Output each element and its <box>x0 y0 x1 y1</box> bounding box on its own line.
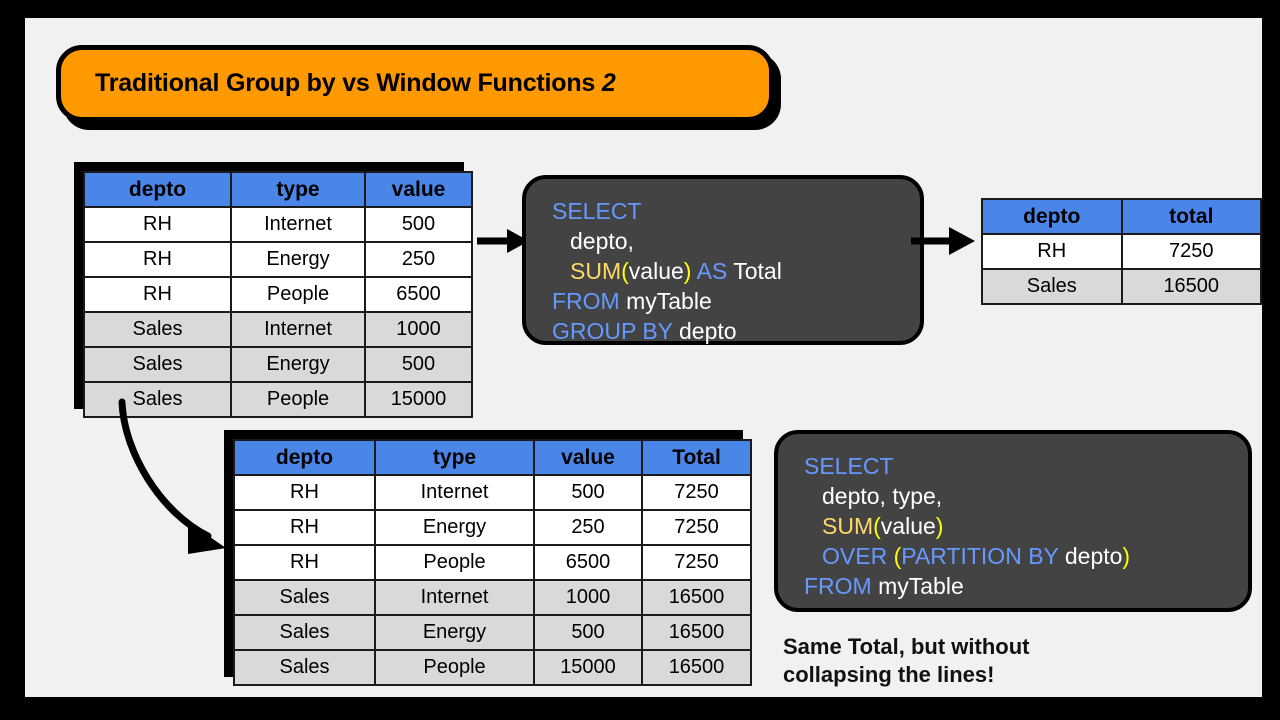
sql-keyword-from: FROM <box>804 573 872 599</box>
sql-keyword-partition-by: PARTITION BY <box>901 543 1058 569</box>
cell-depto: RH <box>84 242 231 277</box>
cell-depto: RH <box>982 234 1122 269</box>
cell-type: Energy <box>375 510 534 545</box>
cell-value: 1000 <box>534 580 642 615</box>
cell-total: 16500 <box>642 615 751 650</box>
column-header-total: total <box>1122 199 1262 234</box>
table-row: RH Energy 250 <box>84 242 472 277</box>
cell-type: Energy <box>375 615 534 650</box>
table-row: RH Energy 250 7250 <box>234 510 751 545</box>
cell-value: 500 <box>534 615 642 650</box>
cell-value: 500 <box>534 475 642 510</box>
sql-keyword-from: FROM <box>552 288 620 314</box>
sql-identifier-value: value <box>629 258 684 284</box>
cell-total: 16500 <box>1122 269 1262 304</box>
sql-close-paren-over: ) <box>1122 543 1130 569</box>
cell-total: 16500 <box>642 580 751 615</box>
page-title-number: 2 <box>602 69 616 97</box>
sql-group-column: depto <box>679 318 737 344</box>
cell-value: 250 <box>365 242 472 277</box>
cell-type: People <box>375 650 534 685</box>
sql-identifier-value: value <box>881 513 936 539</box>
cell-depto: Sales <box>234 580 375 615</box>
column-header-type: type <box>375 440 534 475</box>
sql-alias-total: Total <box>733 258 782 284</box>
sql-open-paren: ( <box>873 513 881 539</box>
cell-type: Energy <box>231 347 365 382</box>
page-title: Traditional Group by vs Window Functions… <box>61 69 616 98</box>
cell-value: 250 <box>534 510 642 545</box>
sql-identifier-depto: depto, <box>570 228 634 254</box>
cell-depto: RH <box>234 545 375 580</box>
sql-open-paren: ( <box>621 258 629 284</box>
sql-close-paren: ) <box>684 258 692 284</box>
cell-depto: Sales <box>84 312 231 347</box>
cell-type: Internet <box>375 475 534 510</box>
sql-function-sum: SUM <box>822 513 873 539</box>
slide-title-banner: Traditional Group by vs Window Functions… <box>56 45 774 122</box>
cell-value: 1000 <box>365 312 472 347</box>
arrow-query-to-result-icon <box>911 213 973 267</box>
cell-type: Internet <box>231 312 365 347</box>
sql-partition-column: depto <box>1065 543 1123 569</box>
cell-value: 6500 <box>365 277 472 312</box>
table-row: RH Internet 500 7250 <box>234 475 751 510</box>
cell-depto: Sales <box>84 347 231 382</box>
cell-total: 7250 <box>642 475 751 510</box>
source-table-grid: depto type value RH Internet 500 RH Ener… <box>83 171 473 418</box>
table-row: RH People 6500 <box>84 277 472 312</box>
window-function-query: SELECT depto, type, SUM(value) OVER (PAR… <box>774 430 1252 612</box>
sql-table-mytable: myTable <box>626 288 712 314</box>
sql-close-paren: ) <box>936 513 944 539</box>
table-row: Sales Internet 1000 <box>84 312 472 347</box>
column-header-value: value <box>365 172 472 207</box>
table-row: Sales Energy 500 16500 <box>234 615 751 650</box>
cell-type: Internet <box>375 580 534 615</box>
cell-depto: Sales <box>234 650 375 685</box>
table-header-row: depto type value <box>84 172 472 207</box>
table-row: Sales Internet 1000 16500 <box>234 580 751 615</box>
table-header-row: depto type value Total <box>234 440 751 475</box>
cell-type: Energy <box>231 242 365 277</box>
sql-keyword-select: SELECT <box>552 198 641 224</box>
table-row: RH Internet 500 <box>84 207 472 242</box>
cell-total: 7250 <box>642 545 751 580</box>
cell-depto: RH <box>84 277 231 312</box>
cell-depto: Sales <box>982 269 1122 304</box>
slide-canvas: Traditional Group by vs Window Functions… <box>25 18 1262 697</box>
window-result-grid: depto type value Total RH Internet 500 7… <box>233 439 752 686</box>
cell-value: 15000 <box>365 382 472 417</box>
cell-type: People <box>231 277 365 312</box>
cell-depto: RH <box>234 475 375 510</box>
table-row: Sales 16500 <box>982 269 1261 304</box>
caption-line-1: Same Total, but without <box>783 633 1203 661</box>
caption-line-2: collapsing the lines! <box>783 661 1203 689</box>
column-header-depto: depto <box>982 199 1122 234</box>
column-header-value: value <box>534 440 642 475</box>
group-by-query: SELECT depto, SUM(value) AS Total FROM m… <box>522 175 924 345</box>
sql-keyword-select: SELECT <box>804 453 893 479</box>
cell-depto: RH <box>234 510 375 545</box>
table-row: RH People 6500 7250 <box>234 545 751 580</box>
window-result-table: depto type value Total RH Internet 500 7… <box>233 439 752 686</box>
column-header-type: type <box>231 172 365 207</box>
cell-total: 7250 <box>1122 234 1262 269</box>
table-row: Sales People 15000 16500 <box>234 650 751 685</box>
groupby-result-table: depto total RH 7250 Sales 16500 <box>981 198 1262 305</box>
sql-keyword-as: AS <box>697 258 728 284</box>
column-header-depto: depto <box>234 440 375 475</box>
groupby-result-grid: depto total RH 7250 Sales 16500 <box>981 198 1262 305</box>
cell-value: 500 <box>365 347 472 382</box>
sql-keyword-group-by: GROUP BY <box>552 318 673 344</box>
cell-depto: Sales <box>234 615 375 650</box>
cell-value: 6500 <box>534 545 642 580</box>
cell-total: 16500 <box>642 650 751 685</box>
column-header-total: Total <box>642 440 751 475</box>
cell-type: People <box>375 545 534 580</box>
cell-type: Internet <box>231 207 365 242</box>
table-header-row: depto total <box>982 199 1261 234</box>
page-title-main: Traditional Group by vs Window Functions <box>95 69 602 97</box>
cell-value: 15000 <box>534 650 642 685</box>
cell-value: 500 <box>365 207 472 242</box>
caption-text: Same Total, but without collapsing the l… <box>783 633 1203 689</box>
table-row: RH 7250 <box>982 234 1261 269</box>
column-header-depto: depto <box>84 172 231 207</box>
source-table: depto type value RH Internet 500 RH Ener… <box>83 171 473 418</box>
sql-table-mytable: myTable <box>878 573 964 599</box>
table-row: Sales Energy 500 <box>84 347 472 382</box>
sql-keyword-over: OVER <box>822 543 887 569</box>
sql-function-sum: SUM <box>570 258 621 284</box>
sql-identifier-columns: depto, type, <box>822 483 942 509</box>
cell-depto: RH <box>84 207 231 242</box>
cell-total: 7250 <box>642 510 751 545</box>
